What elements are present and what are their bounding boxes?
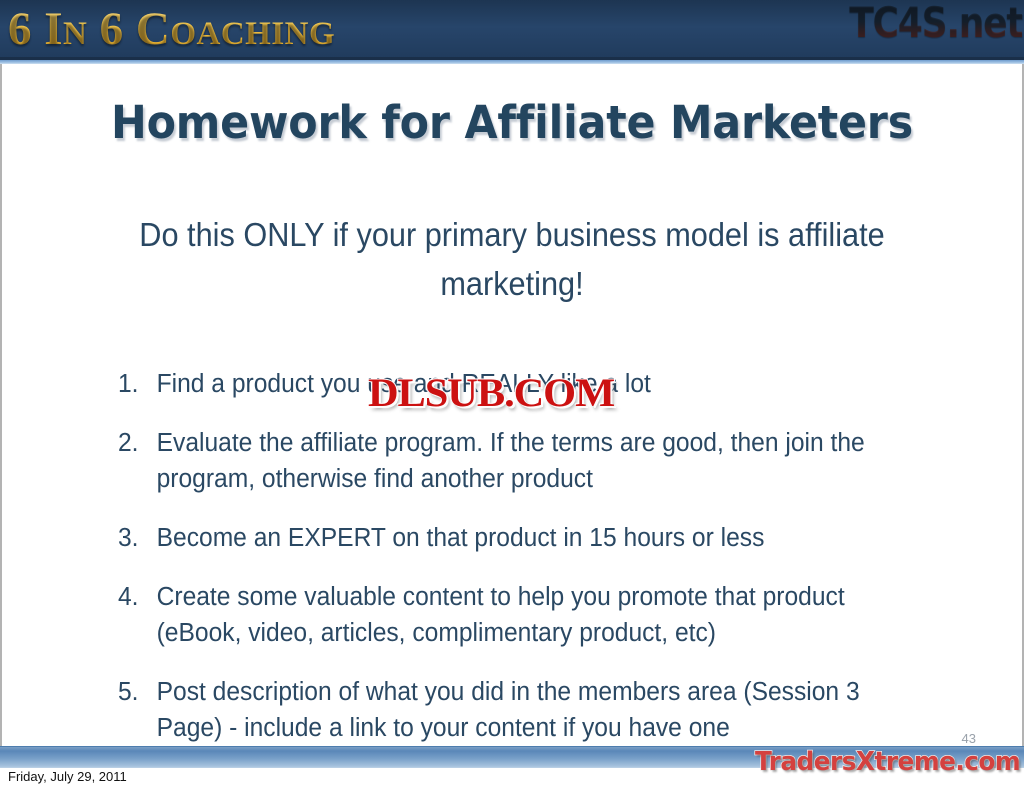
page-number: 43: [962, 731, 976, 746]
list-item-number: 3.: [118, 520, 147, 556]
list-item-number: 2.: [118, 425, 147, 461]
list-item: 5. Post description of what you did in t…: [118, 674, 929, 746]
header-banner: 6 In 6 Coaching TC4S.net: [0, 0, 1024, 60]
brand-title: 6 In 6 Coaching: [8, 2, 335, 56]
presentation-slide: 6 In 6 Coaching TC4S.net Homework for Af…: [0, 0, 1024, 788]
list-item-number: 4.: [118, 579, 147, 615]
list-item: 2. Evaluate the affiliate program. If th…: [118, 425, 929, 497]
site-logo-tc4s: TC4S.net: [849, 0, 1022, 47]
list-item: 1. Find a product you use and REALLY lik…: [118, 366, 929, 402]
list-item-text: Create some valuable content to help you…: [157, 583, 845, 647]
site-logo-tradersxtreme: TradersXtreme.com: [755, 747, 1020, 777]
homework-list: 1. Find a product you use and REALLY lik…: [118, 366, 958, 769]
list-item-text: Evaluate the affiliate program. If the t…: [157, 429, 865, 493]
list-item: 4. Create some valuable content to help …: [118, 579, 929, 651]
list-item: 3. Become an EXPERT on that product in 1…: [118, 520, 929, 556]
list-item-number: 1.: [118, 366, 147, 402]
list-item-text: Post description of what you did in the …: [157, 678, 860, 742]
list-item-text: Become an EXPERT on that product in 15 h…: [157, 524, 765, 552]
list-item-number: 5.: [118, 674, 147, 710]
list-item-text: Find a product you use and REALLY like a…: [157, 370, 651, 398]
slide-subtitle: Do this ONLY if your primary business mo…: [125, 210, 899, 308]
footer-date: Friday, July 29, 2011: [8, 769, 127, 784]
slide-title: Homework for Affiliate Marketers: [26, 96, 999, 149]
